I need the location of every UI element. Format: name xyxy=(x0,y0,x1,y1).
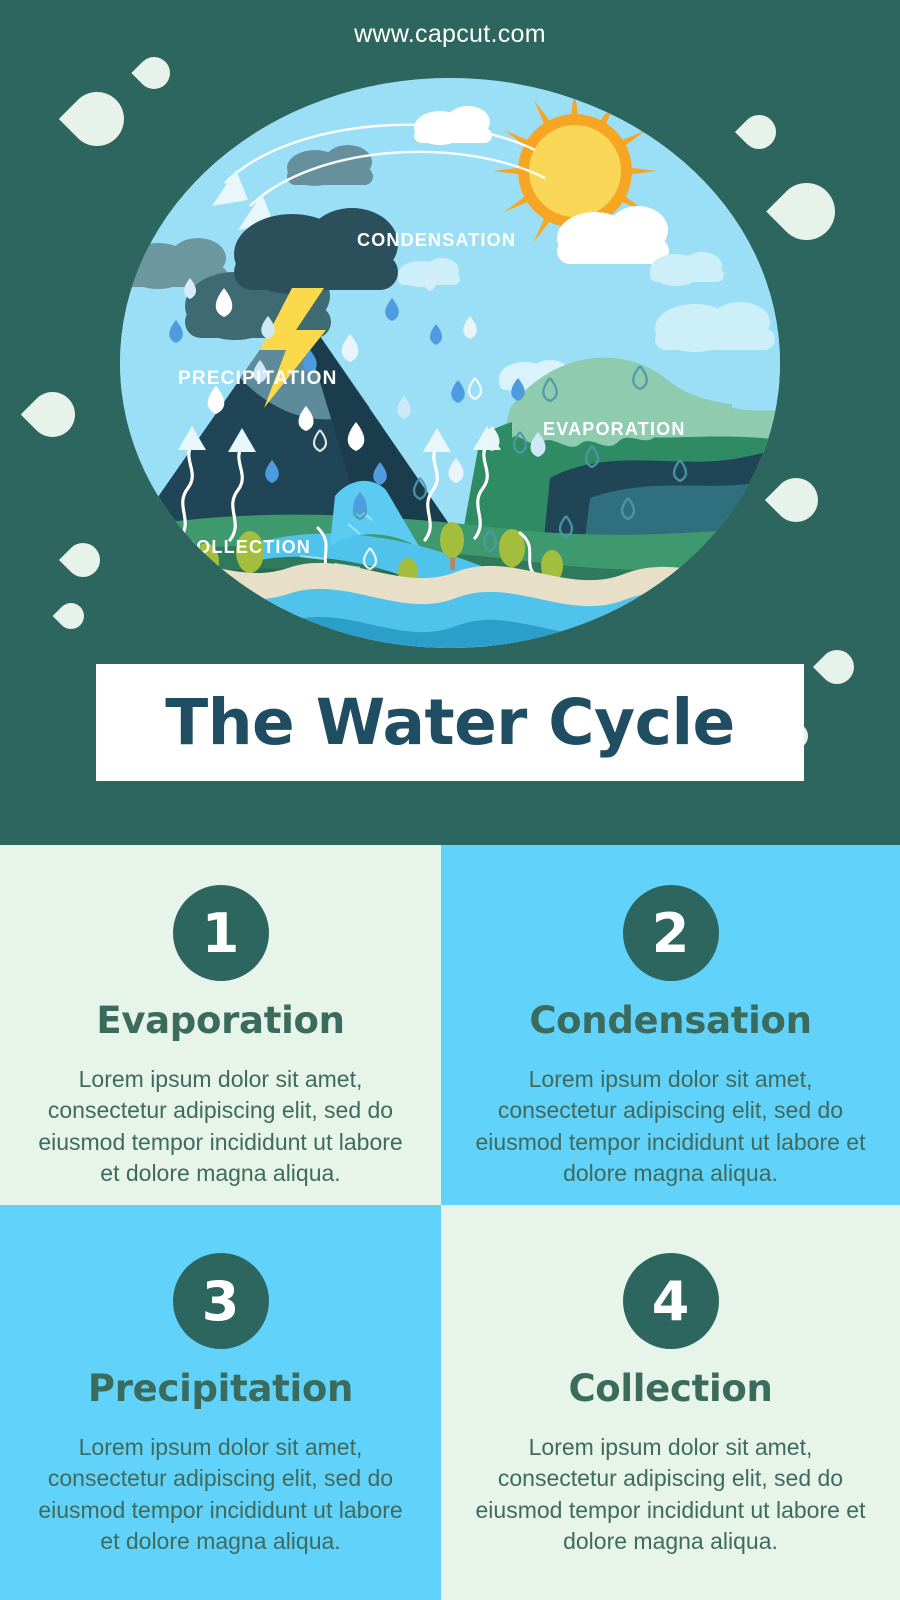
rain-group xyxy=(120,78,780,648)
decorative-drop-icon xyxy=(53,598,90,635)
step-card-evaporation[interactable]: 1 Evaporation Lorem ipsum dolor sit amet… xyxy=(0,845,441,1205)
step-card-collection[interactable]: 4 Collection Lorem ipsum dolor sit amet,… xyxy=(441,1205,900,1600)
step-title-4: Collection xyxy=(467,1367,874,1410)
step-badge-1: 1 xyxy=(173,885,269,981)
title-ribbon-body: The Water Cycle xyxy=(124,664,776,781)
label-collection: COLLECTION xyxy=(182,537,311,558)
step-body-3: Lorem ipsum dolor sit amet, consectetur … xyxy=(26,1432,415,1557)
water-cycle-illustration: CONDENSATION PRECIPITATION EVAPORATION C… xyxy=(120,78,780,648)
step-title-3: Precipitation xyxy=(26,1367,415,1410)
label-precipitation: PRECIPITATION xyxy=(178,368,338,390)
decorative-drop-icon xyxy=(59,536,107,584)
decorative-drop-icon xyxy=(21,383,85,447)
step-body-2: Lorem ipsum dolor sit amet, consectetur … xyxy=(471,1064,871,1189)
step-title-1: Evaporation xyxy=(26,999,415,1042)
raindrop-icon xyxy=(169,270,545,515)
label-evaporation: EVAPORATION xyxy=(543,419,686,440)
infographic-page: www.capcut.com xyxy=(0,0,900,1600)
page-title: The Water Cycle xyxy=(165,686,735,759)
step-badge-2: 2 xyxy=(623,885,719,981)
hero-section: www.capcut.com xyxy=(0,0,900,845)
step-body-1: Lorem ipsum dolor sit amet, consectetur … xyxy=(26,1064,415,1189)
step-title-2: Condensation xyxy=(467,999,874,1042)
steps-grid: 1 Evaporation Lorem ipsum dolor sit amet… xyxy=(0,845,900,1600)
step-badge-3: 3 xyxy=(173,1253,269,1349)
step-body-4: Lorem ipsum dolor sit amet, consectetur … xyxy=(471,1432,871,1557)
step-badge-4: 4 xyxy=(623,1253,719,1349)
site-url: www.capcut.com xyxy=(0,20,900,49)
step-card-condensation[interactable]: 2 Condensation Lorem ipsum dolor sit ame… xyxy=(441,845,900,1205)
step-card-precipitation[interactable]: 3 Precipitation Lorem ipsum dolor sit am… xyxy=(0,1205,441,1600)
label-condensation: CONDENSATION xyxy=(357,230,516,251)
